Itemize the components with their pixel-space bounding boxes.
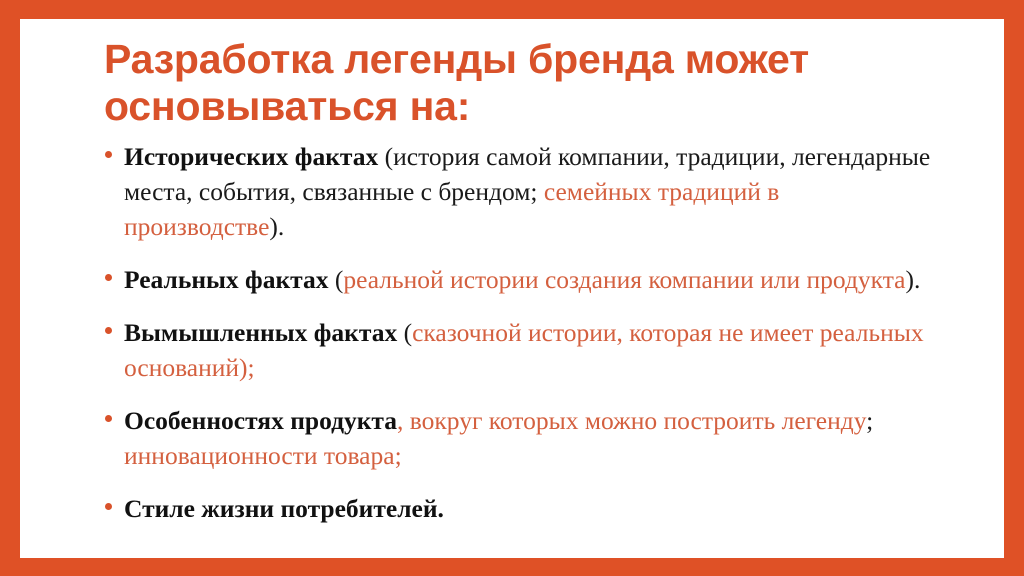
- list-item-text-black: (: [397, 318, 412, 347]
- list-item-text-black: ).: [269, 212, 284, 241]
- list-item-lead: Особенностях продукта: [124, 406, 397, 435]
- bullet-dot-icon: [105, 503, 112, 510]
- page-title: Разработка легенды бренда может основыва…: [104, 36, 894, 130]
- bullet-dot-icon: [105, 151, 112, 158]
- slide-frame: Разработка легенды бренда может основыва…: [0, 0, 1024, 576]
- list-item-text-orange: , вокруг которых можно построить легенду: [397, 406, 866, 435]
- list-item-text-black: ;: [866, 406, 873, 435]
- list-item-text-black: (: [328, 265, 343, 294]
- list-item-text-orange: инновационности товара;: [124, 441, 402, 470]
- list-item: Стиле жизни потребителей.: [99, 491, 944, 526]
- list-item-text-orange: реальной истории создания компании или п…: [343, 265, 905, 294]
- list-item-lead: Исторических фактах: [124, 142, 378, 171]
- bullet-list: Исторических фактах (история самой компа…: [99, 139, 944, 526]
- bullet-dot-icon: [105, 327, 112, 334]
- bullet-dot-icon: [105, 415, 112, 422]
- list-item: Исторических фактах (история самой компа…: [99, 139, 944, 244]
- list-item-text-black: ).: [906, 265, 921, 294]
- list-item: Реальных фактах (реальной истории создан…: [99, 262, 944, 297]
- list-item-lead: Вымышленных фактах: [124, 318, 397, 347]
- bullet-dot-icon: [105, 274, 112, 281]
- list-item: Вымышленных фактах (сказочной истории, к…: [99, 315, 944, 385]
- list-item-lead: Стиле жизни потребителей.: [124, 494, 444, 523]
- slide-content-area: Разработка легенды бренда может основыва…: [20, 19, 1004, 558]
- list-item: Особенностях продукта, вокруг которых мо…: [99, 403, 944, 473]
- list-item-lead: Реальных фактах: [124, 265, 328, 294]
